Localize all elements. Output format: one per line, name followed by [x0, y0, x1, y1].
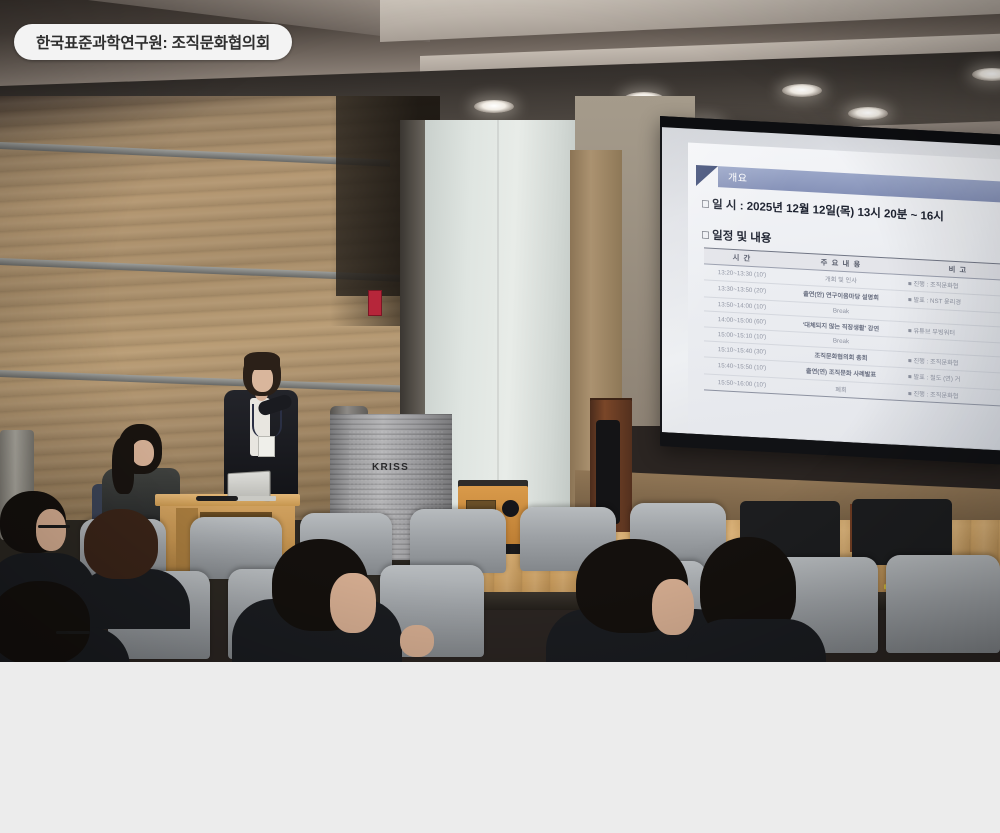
attendee-head [84, 509, 158, 579]
eyeglasses-icon [56, 631, 90, 634]
attendee-face [36, 509, 66, 551]
conference-photo: 개요 □ 일 시 : 2025년 12월 12일(목) 13시 20분 ~ 16… [0, 0, 1000, 662]
slide-date-line: □ 일 시 : 2025년 12월 12일(목) 13시 20분 ~ 16시 [702, 195, 944, 224]
slide-banner-triangle-icon [696, 165, 718, 187]
downlight-icon [782, 84, 822, 97]
cell-time: 15:50~16:00 (10') [704, 373, 780, 393]
attendee-face [330, 573, 376, 633]
screenshot-root: 개요 □ 일 시 : 2025년 12월 12일(목) 13시 20분 ~ 16… [0, 0, 1000, 833]
moderator-hair [112, 438, 134, 494]
pillar-edge [497, 120, 499, 540]
speaker-hair [244, 352, 280, 370]
downlight-icon [848, 107, 888, 120]
eyeglasses-icon [38, 525, 70, 528]
screen-canvas: 개요 □ 일 시 : 2025년 12월 12일(목) 13시 20분 ~ 16… [662, 127, 1000, 451]
moderator-face [132, 440, 154, 466]
title-badge-label: 한국표준과학연구원: 조직문화협의회 [36, 31, 270, 53]
speaker-id-badge [258, 436, 275, 457]
podium-brand-label: KRISS [372, 462, 409, 473]
downlight-icon [474, 100, 514, 113]
agenda-table-body: 13:20~13:30 (10')개회 및 인사■ 진행 : 조직문화협13:3… [704, 264, 1000, 406]
projection-screen: 개요 □ 일 시 : 2025년 12월 12일(목) 13시 20분 ~ 16… [660, 116, 1000, 465]
presentation-slide: 개요 □ 일 시 : 2025년 12월 12일(목) 13시 20분 ~ 16… [688, 143, 1000, 451]
title-badge: 한국표준과학연구원: 조직문화협의회 [14, 24, 292, 60]
attendee-hand [400, 625, 434, 657]
slide-agenda-line: □ 일정 및 내용 [702, 226, 771, 246]
attendee-head [0, 581, 90, 662]
auditorium-seat [410, 509, 506, 573]
auditorium-seat [886, 555, 1000, 653]
attendee-face [652, 579, 694, 635]
slide-banner-title: 개요 [728, 169, 747, 185]
fire-extinguisher-sign-icon [368, 290, 382, 316]
audience-area [0, 487, 1000, 662]
agenda-table: 시 간 주 요 내 용 비 고 13:20~13:30 (10')개회 및 인사… [704, 247, 1000, 406]
attendee-shoulders [686, 619, 826, 662]
